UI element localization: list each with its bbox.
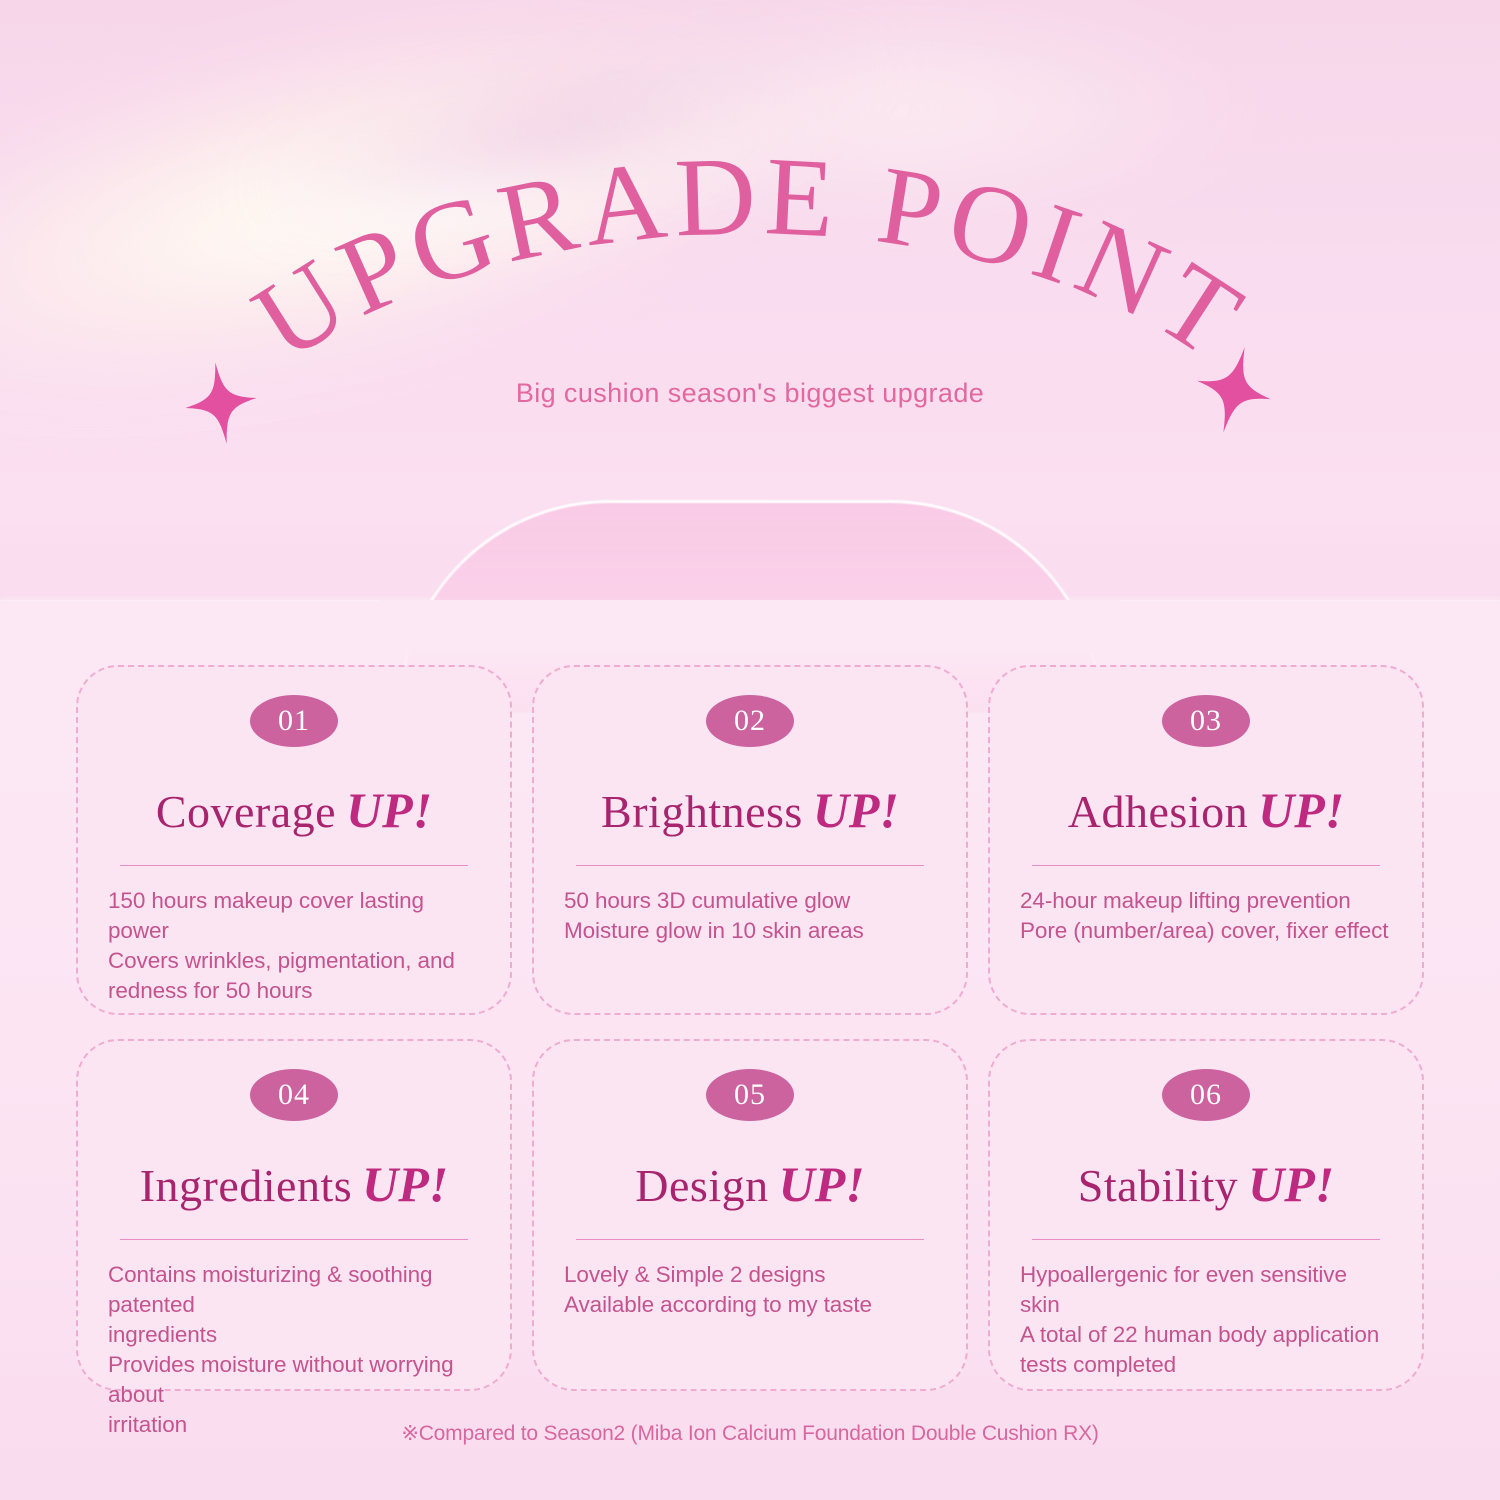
card-number-badge: 04 bbox=[250, 1069, 338, 1121]
upgrade-card-02: 02 BrightnessUP! 50 hours 3D cumulative … bbox=[532, 665, 968, 1015]
card-divider bbox=[576, 1239, 924, 1240]
card-divider bbox=[1032, 1239, 1380, 1240]
card-number-badge: 06 bbox=[1162, 1069, 1250, 1121]
card-headline: DesignUP! bbox=[564, 1155, 936, 1213]
card-number: 02 bbox=[734, 706, 766, 736]
card-title: Ingredients bbox=[140, 1160, 352, 1211]
card-divider bbox=[120, 1239, 468, 1240]
card-up-label: UP! bbox=[346, 782, 432, 838]
upgrade-card-01: 01 CoverageUP! 150 hours makeup cover la… bbox=[76, 665, 512, 1015]
upgrade-card-05: 05 DesignUP! Lovely & Simple 2 designs A… bbox=[532, 1039, 968, 1391]
card-title: Design bbox=[635, 1160, 768, 1211]
card-headline: StabilityUP! bbox=[1020, 1155, 1392, 1213]
card-title: Brightness bbox=[601, 786, 803, 837]
card-title: Adhesion bbox=[1068, 786, 1248, 837]
page-title: UPGRADE POINT bbox=[233, 134, 1267, 384]
card-body: Lovely & Simple 2 designs Available acco… bbox=[564, 1260, 936, 1320]
card-divider bbox=[1032, 865, 1380, 866]
card-headline: AdhesionUP! bbox=[1020, 781, 1392, 839]
card-number: 06 bbox=[1190, 1080, 1222, 1110]
card-up-label: UP! bbox=[1258, 782, 1344, 838]
card-number: 03 bbox=[1190, 706, 1222, 736]
card-body: Hypoallergenic for even sensitive skin A… bbox=[1020, 1260, 1392, 1380]
card-title: Coverage bbox=[156, 786, 336, 837]
sparkle-star-icon-left bbox=[180, 357, 263, 448]
card-headline: IngredientsUP! bbox=[108, 1155, 480, 1213]
card-number-badge: 05 bbox=[706, 1069, 794, 1121]
footnote: ※Compared to Season2 (Miba Ion Calcium F… bbox=[0, 1421, 1500, 1446]
upgrade-card-03: 03 AdhesionUP! 24-hour makeup lifting pr… bbox=[988, 665, 1424, 1015]
card-number: 01 bbox=[278, 706, 310, 736]
upgrade-points-grid: 01 CoverageUP! 150 hours makeup cover la… bbox=[76, 665, 1444, 1391]
upgrade-point-graphic: UPGRADE POINT Big cushion season's bigge… bbox=[0, 0, 1500, 1500]
card-number-badge: 01 bbox=[250, 695, 338, 747]
card-headline: CoverageUP! bbox=[108, 781, 480, 839]
card-number: 04 bbox=[278, 1080, 310, 1110]
card-up-label: UP! bbox=[779, 1156, 865, 1212]
card-up-label: UP! bbox=[1248, 1156, 1334, 1212]
card-divider bbox=[576, 865, 924, 866]
upgrade-card-04: 04 IngredientsUP! Contains moisturizing … bbox=[76, 1039, 512, 1391]
card-body: Contains moisturizing & soothing patente… bbox=[108, 1260, 480, 1440]
card-title: Stability bbox=[1078, 1160, 1238, 1211]
card-body: 150 hours makeup cover lasting power Cov… bbox=[108, 886, 480, 1006]
card-divider bbox=[120, 865, 468, 866]
card-up-label: UP! bbox=[813, 782, 899, 838]
card-body: 24-hour makeup lifting prevention Pore (… bbox=[1020, 886, 1392, 946]
card-number-badge: 03 bbox=[1162, 695, 1250, 747]
card-body: 50 hours 3D cumulative glow Moisture glo… bbox=[564, 886, 936, 946]
card-up-label: UP! bbox=[362, 1156, 448, 1212]
card-headline: BrightnessUP! bbox=[564, 781, 936, 839]
upgrade-card-06: 06 StabilityUP! Hypoallergenic for even … bbox=[988, 1039, 1424, 1391]
card-number-badge: 02 bbox=[706, 695, 794, 747]
card-number: 05 bbox=[734, 1080, 766, 1110]
